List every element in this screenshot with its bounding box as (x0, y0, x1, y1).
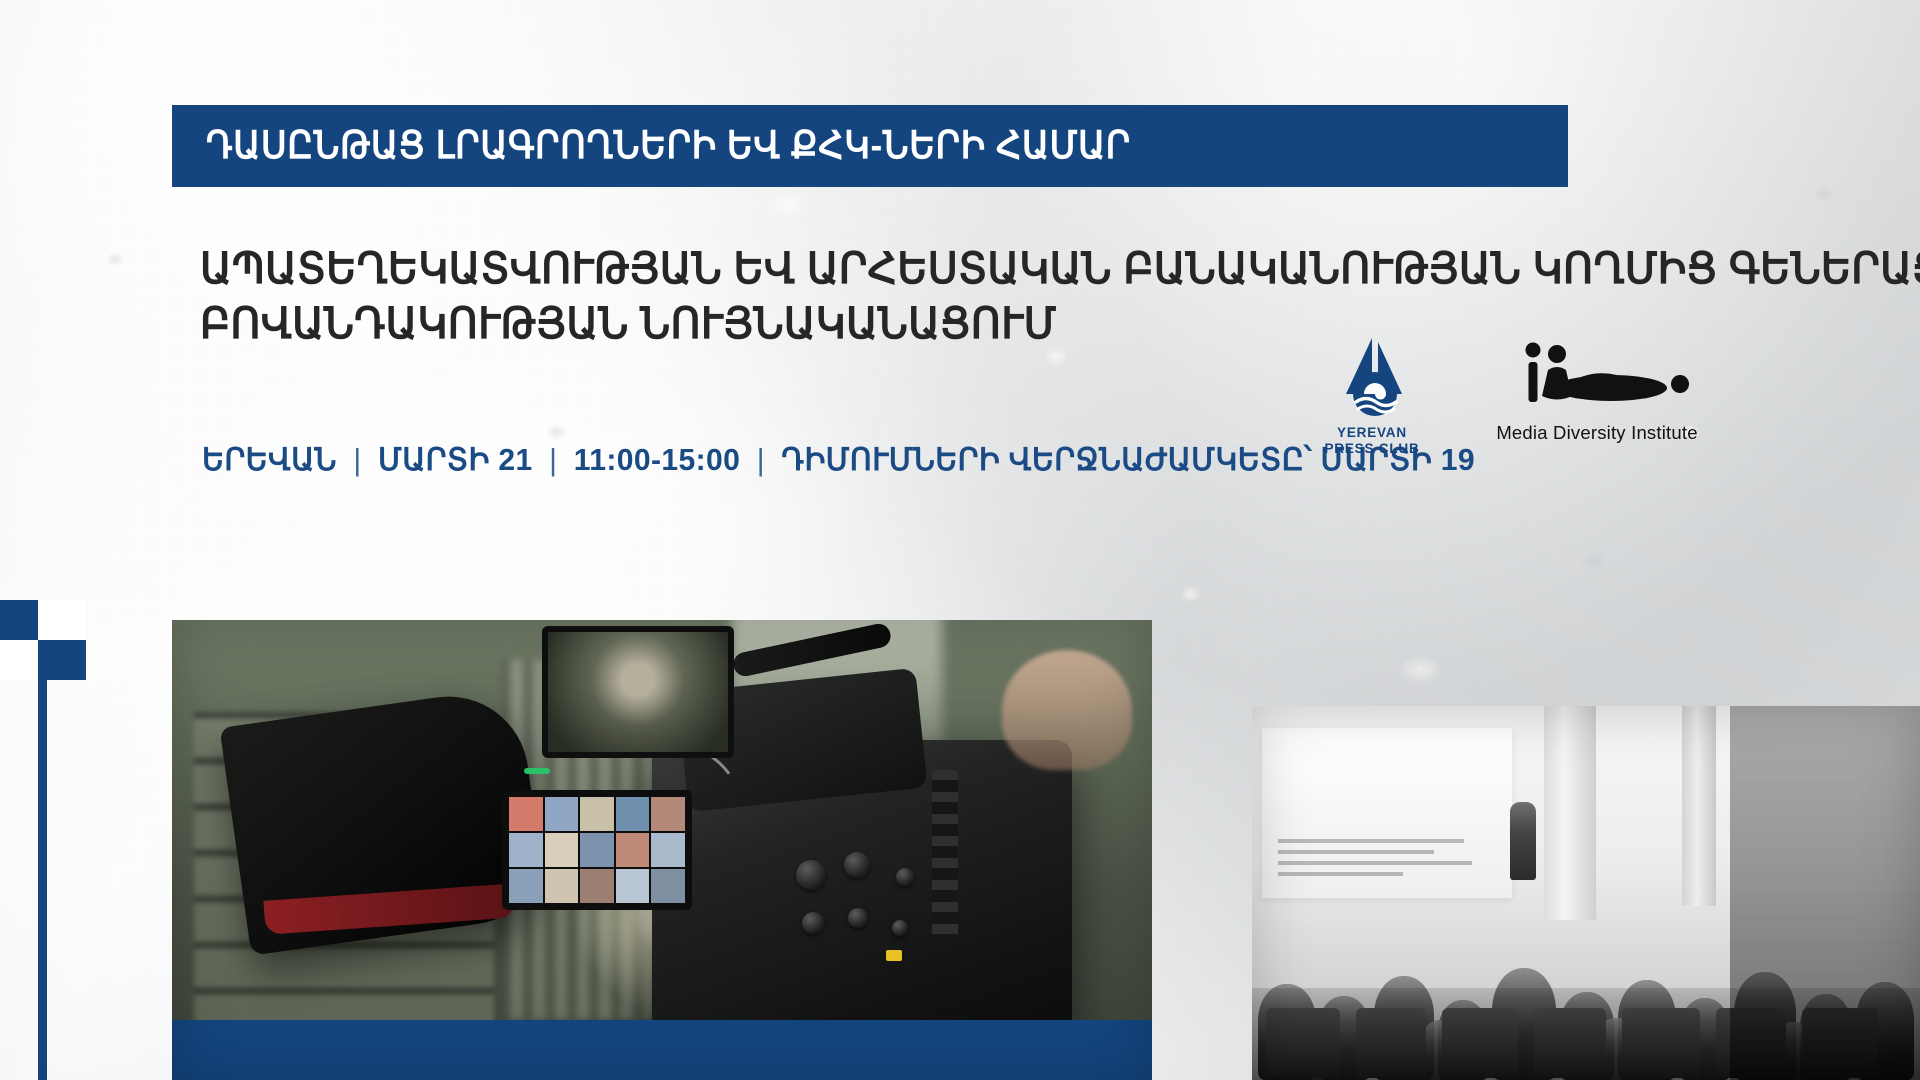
meta-city: ԵՐԵՎԱՆ (202, 442, 337, 478)
meta-date: ՄԱՐՏԻ 21 (378, 442, 533, 478)
photo-camera (172, 620, 1152, 1080)
headline-line-2: ԲՈՎԱՆԴԱԿՈՒԹՅԱՆ ՆՈՒՅՆԱԿԱՆԱՑՈՒՄ (200, 297, 1448, 352)
photo-audience (1252, 706, 1920, 1080)
operator-hand (1002, 650, 1132, 770)
camera-scene (172, 620, 1152, 1080)
people-silhouette-mark-icon (1499, 340, 1695, 416)
decor-square-blue-bottom-right (38, 640, 86, 680)
logo-media-diversity-institute: Media Diversity Institute (1494, 336, 1700, 444)
decor-vertical-stripe (38, 680, 47, 1080)
title-bar: ԴԱՍԸՆԹԱՑ ԼՐԱԳՐՈՂՆԵՐԻ ԵՎ ՔՀԿ-ՆԵՐԻ ՀԱՄԱՐ (172, 105, 1568, 187)
camera-flip-screen (502, 790, 692, 910)
camera-button-strip (932, 770, 958, 940)
decor-square-white-top-right (38, 600, 86, 640)
camera-record-indicator (886, 950, 902, 961)
meta-separator-2: | (549, 442, 557, 478)
logo-group: YEREVAN PRESS CLUB Media Diversity Insti… (1318, 336, 1700, 458)
meta-time: 11:00-15:00 (574, 442, 740, 478)
photo-camera-blue-band (172, 1020, 1152, 1080)
softbox-light (219, 686, 548, 956)
logo-yerevan-press-club: YEREVAN PRESS CLUB (1318, 336, 1426, 458)
headline-line-1: ԱՊԱՏԵՂԵԿԱՏՎՈՒԹՅԱՆ ԵՎ ԱՐՀԵՍՏԱԿԱՆ ԲԱՆԱԿԱՆՈ… (200, 242, 1448, 297)
event-meta: ԵՐԵՎԱՆ | ՄԱՐՏԻ 21 | 11:00-15:00 | ԴԻՄՈՒՄ… (202, 442, 1475, 478)
page-title: ԱՊԱՏԵՂԵԿԱՏՎՈՒԹՅԱՆ ԵՎ ԱՐՀԵՍՏԱԿԱՆ ԲԱՆԱԿԱՆՈ… (200, 242, 1500, 351)
title-bar-text: ԴԱՍԸՆԹԱՑ ԼՐԱԳՐՈՂՆԵՐԻ ԵՎ ՔՀԿ-ՆԵՐԻ ՀԱՄԱՐ (206, 127, 1131, 165)
meta-separator-1: | (353, 442, 361, 478)
camera-viewfinder-screen (542, 626, 734, 758)
sail-wave-mark-icon (1326, 336, 1418, 418)
flip-screen-thumbnails (509, 797, 685, 903)
logo-ypc-label: YEREVAN PRESS CLUB (1324, 425, 1419, 458)
logo-mdi-label: Media Diversity Institute (1496, 422, 1697, 444)
event-poster: ԴԱՍԸՆԹԱՑ ԼՐԱԳՐՈՂՆԵՐԻ ԵՎ ՔՀԿ-ՆԵՐԻ ՀԱՄԱՐ Ա… (0, 0, 1920, 1080)
decor-square-white-bottom-left (0, 640, 38, 680)
audience-blue-overlay-panel (1730, 706, 1920, 1080)
camera-status-led-green (524, 768, 550, 774)
decor-square-blue-top-left (0, 600, 38, 640)
audience-scene (1252, 706, 1920, 1080)
meta-separator-3: | (757, 442, 765, 478)
